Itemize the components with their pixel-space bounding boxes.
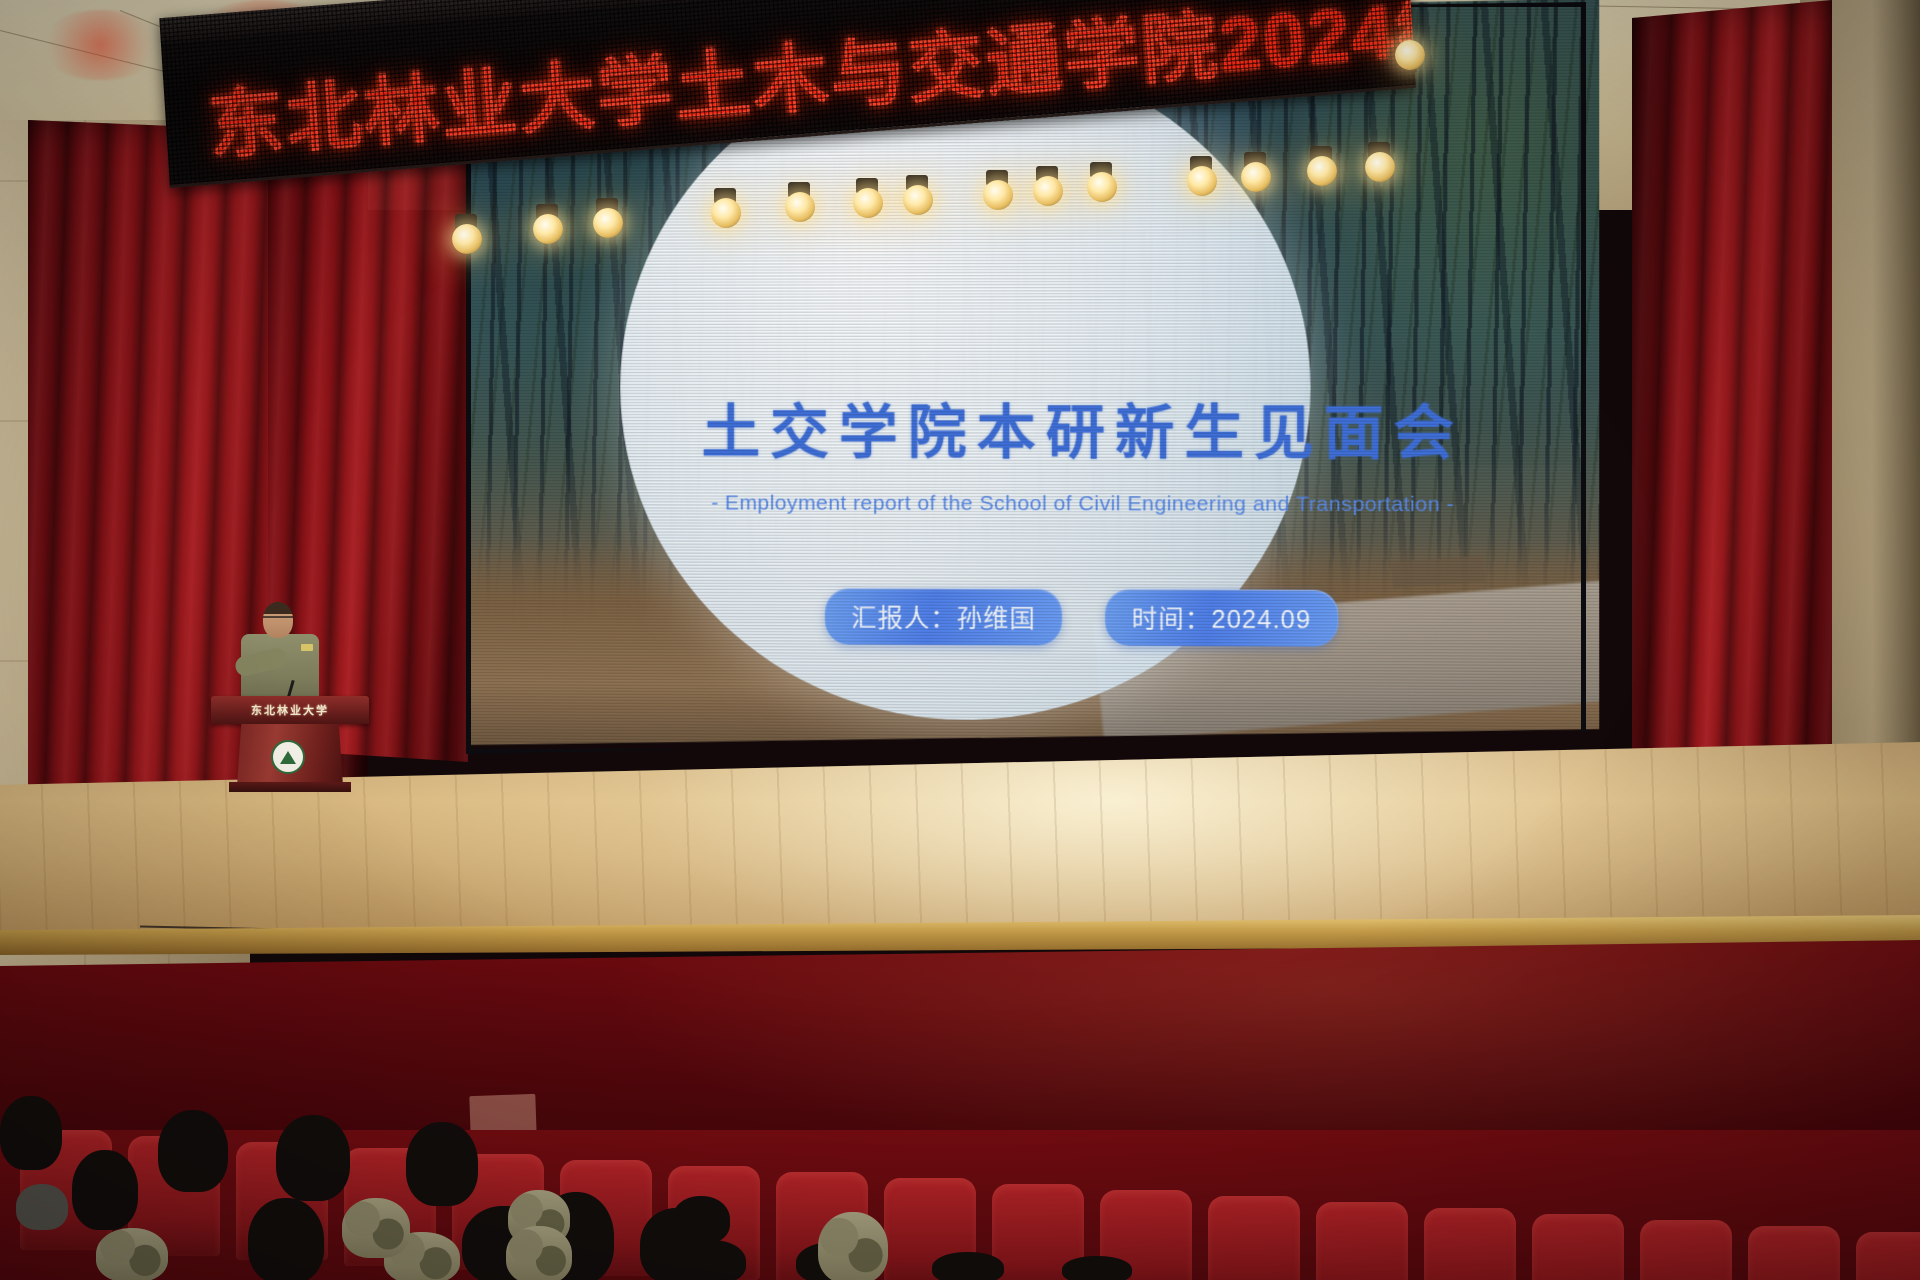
audience-seat <box>1316 1202 1408 1280</box>
stage-lamp <box>1033 176 1063 206</box>
uniform-insignia <box>301 644 313 651</box>
audience-head <box>676 1240 746 1280</box>
podium-base <box>229 782 351 792</box>
audience-head <box>818 1212 888 1280</box>
audience-head <box>506 1226 572 1280</box>
stage-lamp <box>1241 162 1271 192</box>
audience-head <box>672 1196 730 1244</box>
stage-lamp <box>983 180 1013 210</box>
podium-label: 东北林业大学 <box>211 702 369 718</box>
audience-head <box>342 1198 410 1258</box>
date-badge: 时间：2024.09 <box>1105 589 1338 647</box>
stage-lamp <box>593 208 623 238</box>
audience-seat <box>1748 1226 1840 1280</box>
slide-meta-row: 汇报人：孙维国 时间：2024.09 <box>610 587 1558 647</box>
stage-lamp <box>1395 40 1425 70</box>
audience-head <box>158 1110 228 1192</box>
slide-subtitle: - Employment report of the School of Civ… <box>610 491 1558 517</box>
podium-group: 东北林业大学 <box>205 600 405 780</box>
stage-lamp <box>452 224 482 254</box>
audience-seat <box>1424 1208 1516 1280</box>
audience-head <box>16 1184 68 1230</box>
audience-head <box>248 1198 324 1280</box>
audience-head <box>96 1228 168 1280</box>
audience-head <box>72 1150 138 1230</box>
stage-lamp <box>903 185 933 215</box>
audience-seat <box>1208 1196 1300 1280</box>
stage-lamp <box>853 188 883 218</box>
stage-lamp <box>533 214 563 244</box>
stage-lamp <box>1087 172 1117 202</box>
stage-lamp <box>785 192 815 222</box>
glasses-icon <box>263 616 293 622</box>
presenter-badge: 汇报人：孙维国 <box>825 588 1062 645</box>
slide-content: 土交学院本研新生见面会 - Employment report of the S… <box>610 385 1558 648</box>
audience-head <box>0 1096 62 1170</box>
audience-seat <box>1856 1232 1920 1280</box>
stage-lamp <box>1187 166 1217 196</box>
podium-top: 东北林业大学 <box>211 696 369 724</box>
audience-head <box>932 1252 1004 1280</box>
stage-lamp <box>711 198 741 228</box>
audience-seat <box>1640 1220 1732 1280</box>
audience-seat <box>1532 1214 1624 1280</box>
stage-lamp <box>1365 152 1395 182</box>
auditorium-scene: 土交学院本研新生见面会 - Employment report of the S… <box>0 0 1920 1280</box>
audience-head <box>276 1115 350 1201</box>
led-reflection-glow <box>40 10 160 80</box>
slide-title: 土交学院本研新生见面会 <box>610 385 1558 471</box>
audience-head <box>406 1122 478 1206</box>
university-emblem-icon <box>271 740 305 774</box>
stage-lamp <box>1307 156 1337 186</box>
audience-head <box>1062 1256 1132 1280</box>
